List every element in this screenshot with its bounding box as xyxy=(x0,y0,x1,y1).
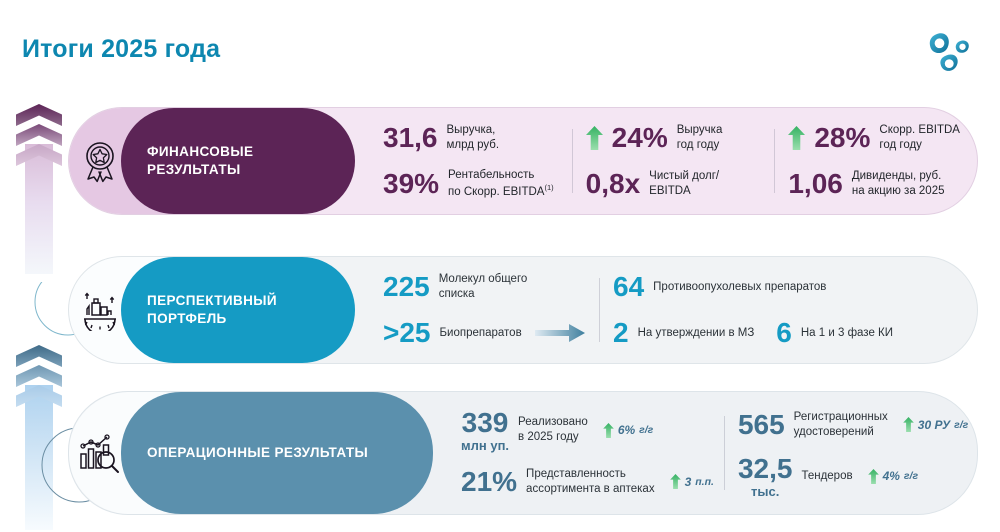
page-title: Итоги 2025 года xyxy=(22,35,220,64)
chevron-icon xyxy=(16,385,62,407)
arrow-up-icon xyxy=(903,417,914,432)
stat-label-line-1: Регистрационных xyxy=(794,411,888,423)
stat-label-line-2: на акцию за 2025 xyxy=(852,185,945,197)
footnote-marker: (1) xyxy=(544,183,553,192)
stat-value: 32,5 xyxy=(738,455,793,483)
stat-label: Реализовано в 2025 году xyxy=(518,415,588,444)
arrow-up-icon xyxy=(586,126,603,150)
stat-value: 21% xyxy=(461,466,517,498)
stat-delta-value: 4% xyxy=(883,469,900,483)
portfolio-stats: 225 Молекул общего списка >25 Биопрепара… xyxy=(355,257,977,363)
stat-label-line-2: год году xyxy=(879,139,922,151)
stat-value: 225 xyxy=(383,271,430,303)
arrow-up-icon xyxy=(788,126,805,150)
pharma-production-icon xyxy=(79,289,121,331)
decorative-chevrons-purple xyxy=(16,104,62,274)
stat-delta-value: 30 РУ xyxy=(918,418,950,432)
stat-label-line-1: Выручка, xyxy=(447,124,496,136)
stat-delta: 30 РУ г/г xyxy=(903,417,968,432)
stat-label-line-2: списка xyxy=(439,288,475,300)
stat-unit: млн уп. xyxy=(461,439,509,452)
stat-value-group: 339 млн уп. xyxy=(461,409,509,452)
arrow-up-icon xyxy=(603,423,614,438)
stat-label-line-2: ассортимента в аптеках xyxy=(526,483,655,495)
analytics-magnifier-icon xyxy=(78,432,122,474)
company-logo xyxy=(924,30,978,76)
stat-pharmacy-coverage: 21% Представленность ассортимента в апте… xyxy=(447,459,724,505)
stat-label-line-1: Выручка xyxy=(677,124,723,136)
stat-column: 225 Молекул общего списка >25 Биопрепара… xyxy=(369,257,599,363)
stat-value: 2 xyxy=(613,317,629,349)
stat-delta-unit: г/г xyxy=(904,470,918,482)
stat-revenue: 31,6 Выручка, млрд руб. xyxy=(369,115,572,161)
operational-stats: 339 млн уп. Реализовано в 2025 году 6% г… xyxy=(433,392,978,514)
stat-delta-unit: г/г xyxy=(954,419,968,431)
stat-unit: тыс. xyxy=(751,485,779,498)
stat-dividends: 1,06 Дивиденды, руб. на акцию за 2025 xyxy=(774,161,977,207)
pharma-production-icon-cell xyxy=(69,257,131,363)
stat-ebitda-growth: 28% Скорр. EBITDA год году xyxy=(774,115,977,161)
stat-label: Чистый долг/ EBITDA xyxy=(649,169,719,198)
section-title-financial: ФИНАНСОВЫЕ РЕЗУЛЬТАТЫ xyxy=(121,108,355,214)
stat-column: 565 Регистрационных удостоверений 30 РУ … xyxy=(724,392,978,514)
stat-value: 28% xyxy=(814,122,870,154)
stat-label: На утверждении в МЗ xyxy=(638,326,755,341)
stat-delta: 4% г/г xyxy=(868,469,918,484)
stat-value-group: 32,5 тыс. xyxy=(738,455,793,498)
stat-label-line-2: по Скорр. EBITDA xyxy=(448,186,544,198)
award-medal-icon xyxy=(80,139,120,183)
stat-label-line-1: Рентабельность xyxy=(448,169,534,181)
stat-value: 0,8х xyxy=(586,168,641,200)
stat-label: Дивиденды, руб. на акцию за 2025 xyxy=(852,169,945,198)
stat-value: 24% xyxy=(612,122,668,154)
stat-label-line-2: год году xyxy=(677,139,720,151)
stat-delta-unit: п.п. xyxy=(695,476,714,488)
stat-column: 64 Противоопухолевых препаратов 2 На утв… xyxy=(599,257,977,363)
chevron-icon xyxy=(16,124,62,146)
stat-value: 31,6 xyxy=(383,122,438,154)
stat-delta-unit: г/г xyxy=(639,424,653,436)
stat-column: 28% Скорр. EBITDA год году 1,06 Дивиденд… xyxy=(774,108,977,214)
stat-label-line-1: Дивиденды, руб. xyxy=(852,170,942,182)
stat-column: 339 млн уп. Реализовано в 2025 году 6% г… xyxy=(447,392,724,514)
stat-label-line-1: Чистый долг/ xyxy=(649,170,719,182)
stat-value: 339 xyxy=(462,409,509,437)
stat-label-line-1: Молекул общего xyxy=(439,273,528,285)
stat-label: Представленность ассортимента в аптеках xyxy=(526,467,655,496)
stat-label-line-1: Реализовано xyxy=(518,416,588,428)
section-portfolio: ПЕРСПЕКТИВНЫЙ ПОРТФЕЛЬ 225 Молекул общег… xyxy=(68,256,978,364)
stat-label-line-2: EBITDA xyxy=(649,185,691,197)
stat-clinical-trials: 6 На 1 и 3 фазе КИ xyxy=(776,317,893,349)
award-medal-icon-cell xyxy=(69,108,131,214)
stat-delta-value: 3 xyxy=(685,475,692,489)
stat-label: Выручка год году xyxy=(677,123,723,152)
stat-value: 64 xyxy=(613,271,644,303)
stat-label: Противоопухолевых препаратов xyxy=(653,280,826,295)
stat-registration-certificates: 565 Регистрационных удостоверений 30 РУ … xyxy=(724,402,978,448)
stat-label-line-2: удостоверений xyxy=(794,426,874,438)
analytics-magnifier-icon-cell xyxy=(69,392,131,514)
section-title-line-2: ПОРТФЕЛЬ xyxy=(147,310,277,328)
section-title-portfolio: ПЕРСПЕКТИВНЫЙ ПОРТФЕЛЬ xyxy=(121,257,355,363)
stat-label: Выручка, млрд руб. xyxy=(447,123,500,152)
stat-label: Скорр. EBITDA год году xyxy=(879,123,960,152)
stat-value: 39% xyxy=(383,168,439,200)
stat-column: 24% Выручка год году 0,8х Чистый долг/ E… xyxy=(572,108,775,214)
stat-delta-value: 6% xyxy=(618,423,635,437)
stat-label-line-1: Скорр. EBITDA xyxy=(879,124,960,136)
stat-column: 31,6 Выручка, млрд руб. 39% Рентабельнос… xyxy=(369,108,572,214)
section-financial-results: ФИНАНСОВЫЕ РЕЗУЛЬТАТЫ 31,6 Выручка, млрд… xyxy=(68,107,978,215)
stat-revenue-growth: 24% Выручка год году xyxy=(572,115,775,161)
stat-label-line-1: Представленность xyxy=(526,468,626,480)
section-title-line-1: ОПЕРАЦИОННЫЕ РЕЗУЛЬТАТЫ xyxy=(147,444,368,462)
chevron-icon xyxy=(16,104,62,126)
arrow-up-icon xyxy=(670,474,681,489)
stat-net-debt-ebitda: 0,8х Чистый долг/ EBITDA xyxy=(572,161,775,207)
stat-moh-approval-group: 2 На утверждении в МЗ 6 На 1 и 3 фазе КИ xyxy=(599,310,977,356)
stat-tenders: 32,5 тыс. Тендеров 4% г/г xyxy=(724,448,978,505)
stat-label: Регистрационных удостоверений xyxy=(794,410,888,439)
stat-delta: 6% г/г xyxy=(603,423,653,438)
stat-label: На 1 и 3 фазе КИ xyxy=(801,326,893,341)
stat-label-line-2: млрд руб. xyxy=(447,139,500,151)
stat-label: Тендеров xyxy=(801,469,852,484)
stat-value: 1,06 xyxy=(788,168,843,200)
section-operational-results: ОПЕРАЦИОННЫЕ РЕЗУЛЬТАТЫ 339 млн уп. Реал… xyxy=(68,391,978,515)
arrow-up-icon xyxy=(868,469,879,484)
stat-units-sold: 339 млн уп. Реализовано в 2025 году 6% г… xyxy=(447,402,724,459)
financial-stats: 31,6 Выручка, млрд руб. 39% Рентабельнос… xyxy=(355,108,977,214)
chevron-icon xyxy=(16,144,62,166)
chevron-icon xyxy=(16,365,62,387)
stat-biologics: >25 Биопрепаратов xyxy=(369,310,599,356)
stat-value: 6 xyxy=(776,317,792,349)
section-title-line-1: ПЕРСПЕКТИВНЫЙ xyxy=(147,292,277,310)
stat-label: Молекул общего списка xyxy=(439,272,528,301)
section-title-operational: ОПЕРАЦИОННЫЕ РЕЗУЛЬТАТЫ xyxy=(121,392,433,514)
arrow-right-icon xyxy=(535,324,585,342)
stat-ebitda-margin: 39% Рентабельность по Скорр. EBITDA(1) xyxy=(369,161,572,207)
section-title-line-2: РЕЗУЛЬТАТЫ xyxy=(147,161,253,179)
section-title-line-1: ФИНАНСОВЫЕ xyxy=(147,143,253,161)
stat-delta: 3 п.п. xyxy=(670,474,714,489)
stat-moh-approval: 2 На утверждении в МЗ xyxy=(613,317,754,349)
stat-label: Биопрепаратов xyxy=(440,326,522,341)
stat-label-line-2: в 2025 году xyxy=(518,431,579,443)
stat-molecules: 225 Молекул общего списка xyxy=(369,264,599,310)
stat-label: Рентабельность по Скорр. EBITDA(1) xyxy=(448,168,554,199)
stat-value: >25 xyxy=(383,317,431,349)
stat-value: 565 xyxy=(738,409,785,441)
stat-oncology-drugs: 64 Противоопухолевых препаратов xyxy=(599,264,977,310)
